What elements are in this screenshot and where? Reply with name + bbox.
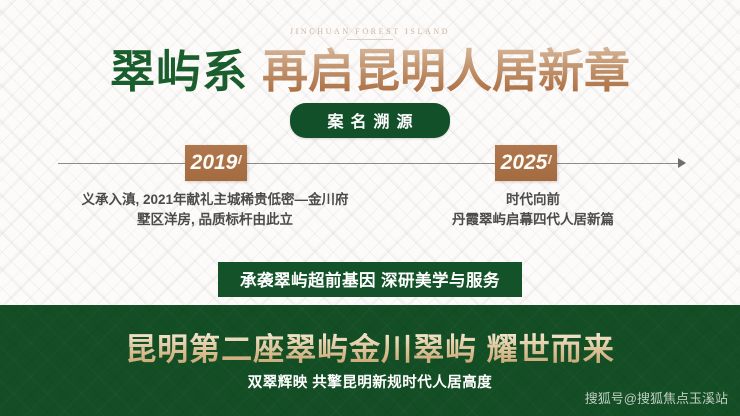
section-badge: 案名溯源 <box>290 103 449 138</box>
timeline-axis <box>58 163 681 164</box>
footer-title: 昆明第二座翠屿金川翠屿 耀世而来 <box>0 333 740 367</box>
headline-main: 再启昆明人居新章 <box>262 45 630 97</box>
tagline-label: 承袭翠屿超前基因 深研美学与服务 <box>240 272 500 290</box>
timeline-arrow-icon <box>678 158 686 168</box>
brand-eyebrow: JINCHUAN FOREST ISLAND <box>0 27 740 40</box>
timeline-marker-2019: 2019 <box>185 145 247 181</box>
description-line: 时代向前 <box>408 190 658 210</box>
description-line: 义承入滇, 2021年献礼主城稀贵低密—金川府 <box>50 190 380 210</box>
description-line: 丹霞翠屿启幕四代人居新篇 <box>408 210 658 230</box>
tagline-wrap: 承袭翠屿超前基因 深研美学与服务 <box>0 262 740 297</box>
page-title: 翠屿系再启昆明人居新章 <box>0 48 740 94</box>
section-badge-wrap: 案名溯源 <box>0 103 740 138</box>
section-badge-label: 案名溯源 <box>320 114 419 131</box>
timeline-marker-2025: 2025 <box>495 145 557 181</box>
timeline-description-2025: 时代向前 丹霞翠屿启幕四代人居新篇 <box>408 190 658 230</box>
brand-divider <box>347 39 393 40</box>
timeline-description-2019: 义承入滇, 2021年献礼主城稀贵低密—金川府 墅区洋房, 品质标杆由此立 <box>50 190 380 230</box>
brand-name: JINCHUAN FOREST ISLAND <box>0 27 740 36</box>
footer-panel: 昆明第二座翠屿金川翠屿 耀世而来 双翠辉映 共擎昆明新规时代人居高度 搜狐号@搜… <box>0 305 740 416</box>
headline-prefix: 翠屿系 <box>110 46 248 97</box>
tagline-bar: 承袭翠屿超前基因 深研美学与服务 <box>218 262 522 297</box>
poster-canvas: JINCHUAN FOREST ISLAND 翠屿系再启昆明人居新章 案名溯源 … <box>0 0 740 416</box>
watermark-label: 搜狐号@搜狐焦点玉溪站 <box>585 388 728 407</box>
description-line: 墅区洋房, 品质标杆由此立 <box>50 210 380 230</box>
